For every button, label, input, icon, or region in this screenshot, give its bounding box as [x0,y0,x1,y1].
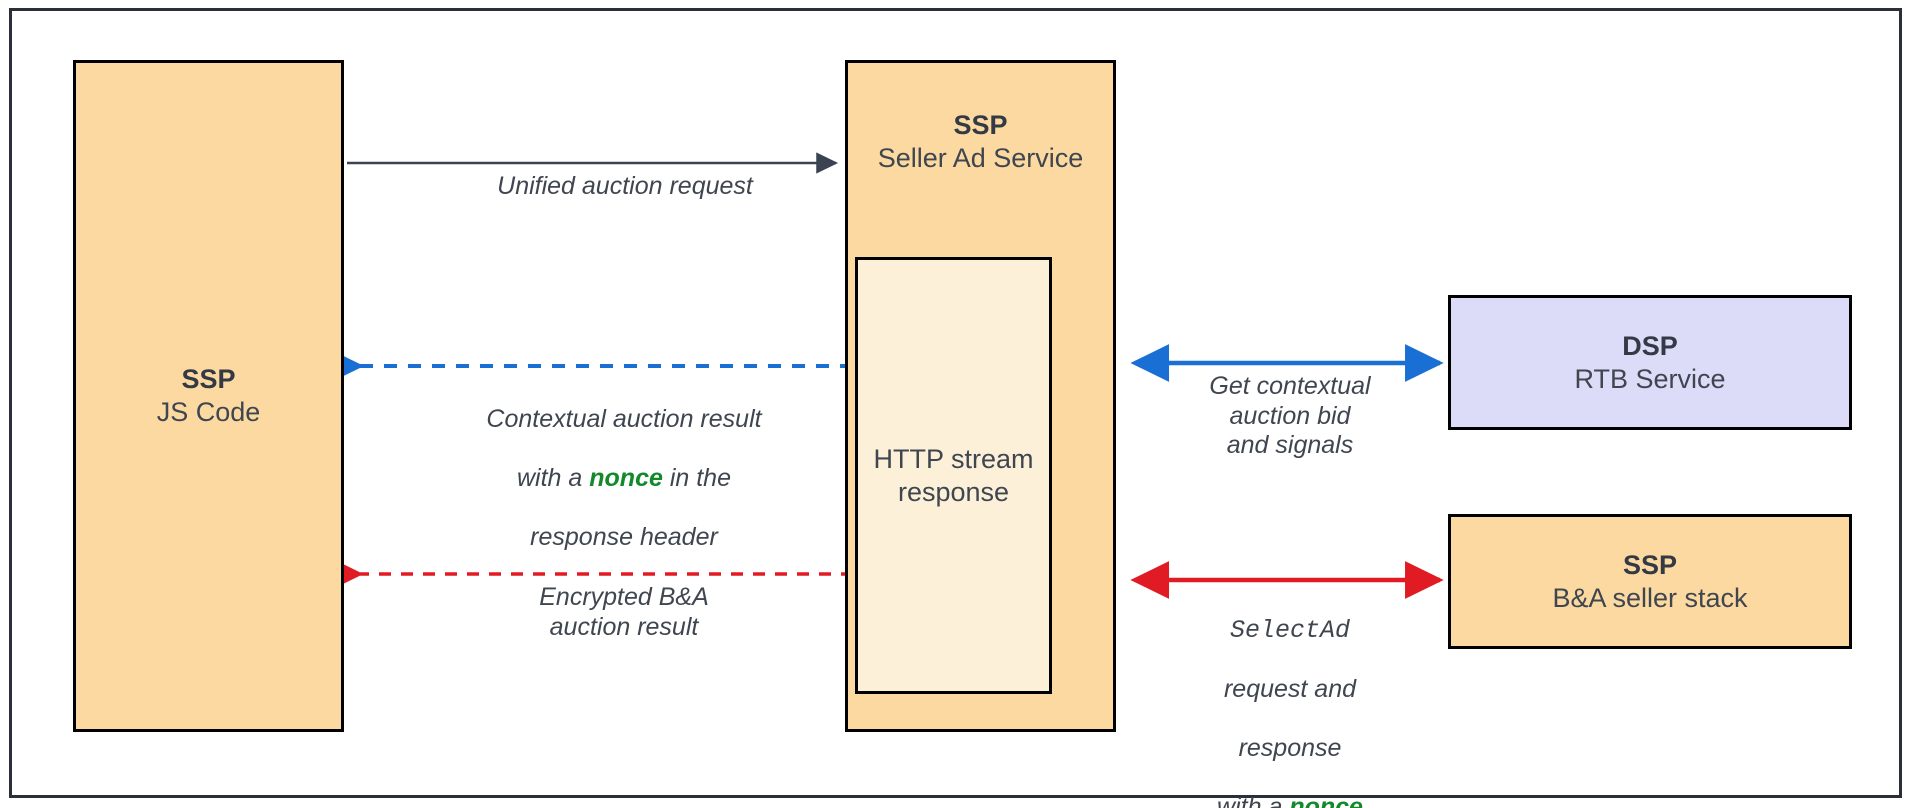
diagram-canvas: SSP JS Code SSP Seller Ad Service HTTP s… [0,0,1913,808]
edge-label-line-3: response header [408,523,840,553]
edge-label-line-2-pre: with a [517,464,589,492]
edge-label-selectad-request-and-response: SelectAd request and response with a non… [1145,586,1435,808]
node-title: SSP [953,109,1007,142]
edge-label-line-2: request and [1145,675,1435,705]
node-subtitle: JS Code [157,396,261,429]
selectad-api-name: SelectAd [1145,616,1435,646]
node-title: DSP [1622,330,1678,363]
node-dsp-rtb-service[interactable]: DSP RTB Service [1448,295,1852,430]
node-ssp-js-code[interactable]: SSP JS Code [73,60,344,732]
edge-label-line-2: with a nonce in the [408,464,840,494]
edge-label-unified-auction-request: Unified auction request [415,172,835,202]
edge-label-contextual-auction-result: Contextual auction result with a nonce i… [408,375,840,582]
edge-label-line-3: response [1145,734,1435,764]
node-title: SSP [181,363,235,396]
edge-label-line-1: Contextual auction result [408,405,840,435]
node-subtitle: B&A seller stack [1552,582,1747,615]
node-subtitle: Seller Ad Service [878,142,1084,175]
node-title: SSP [1623,549,1677,582]
edge-label-get-contextual-bid-and-signals: Get contextual auction bid and signals [1145,372,1435,461]
node-ssp-ba-seller-stack[interactable]: SSP B&A seller stack [1448,514,1852,649]
nonce-keyword: nonce [589,464,663,492]
node-subtitle: RTB Service [1574,363,1725,396]
node-subtitle: HTTP stream response [858,443,1049,509]
edge-label-line-4: with a nonce [1145,793,1435,808]
edge-label-encrypted-ba-auction-result: Encrypted B&A auction result [432,583,816,642]
node-http-stream-response[interactable]: HTTP stream response [855,257,1052,694]
nonce-keyword: nonce [1289,793,1363,808]
edge-label-line-4-pre: with a [1217,793,1289,808]
edge-label-line-2-post: in the [663,464,731,492]
